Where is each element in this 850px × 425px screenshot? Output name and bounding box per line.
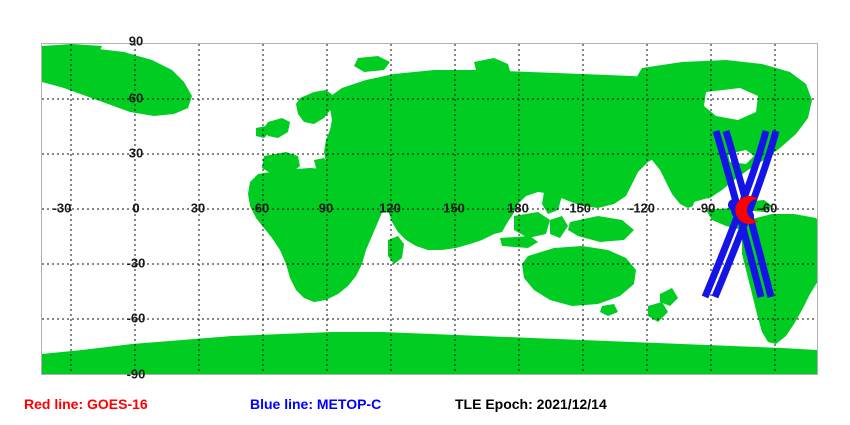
ytick-label--90: -90: [127, 367, 146, 382]
xtick-label-0: 0: [132, 201, 139, 216]
arctic-canada-islands: [42, 44, 102, 56]
xtick-label--90: -90: [697, 201, 716, 216]
xtick-label-60: 60: [255, 201, 269, 216]
ytick-label--30: -30: [127, 256, 146, 271]
ytick-label--60: -60: [127, 311, 146, 326]
xtick-label-180: 180: [507, 201, 529, 216]
xtick-label-150: 150: [443, 201, 465, 216]
ytick-label-30: 30: [129, 146, 143, 161]
ytick-label-90: 90: [129, 34, 143, 49]
map-legend: Red line: GOES-16 Blue line: METOP-C TLE…: [0, 396, 850, 420]
xtick-label--120: -120: [629, 201, 655, 216]
ytick-label-60: 60: [129, 91, 143, 106]
legend-tle-epoch: TLE Epoch: 2021/12/14: [455, 396, 607, 412]
xtick-label--150: -150: [565, 201, 591, 216]
xtick-label-90: 90: [319, 201, 333, 216]
xtick-label--30: -30: [53, 201, 72, 216]
legend-goes16: Red line: GOES-16: [24, 396, 148, 412]
xtick-label-30: 30: [191, 201, 205, 216]
xtick-label-120: 120: [379, 201, 401, 216]
satellite-ground-track-map: 90 60 30 0 -30 -60 -90 -30 0 30 60 90 12…: [0, 0, 850, 425]
xtick-label--60: -60: [759, 201, 778, 216]
legend-metopc: Blue line: METOP-C: [250, 396, 381, 412]
